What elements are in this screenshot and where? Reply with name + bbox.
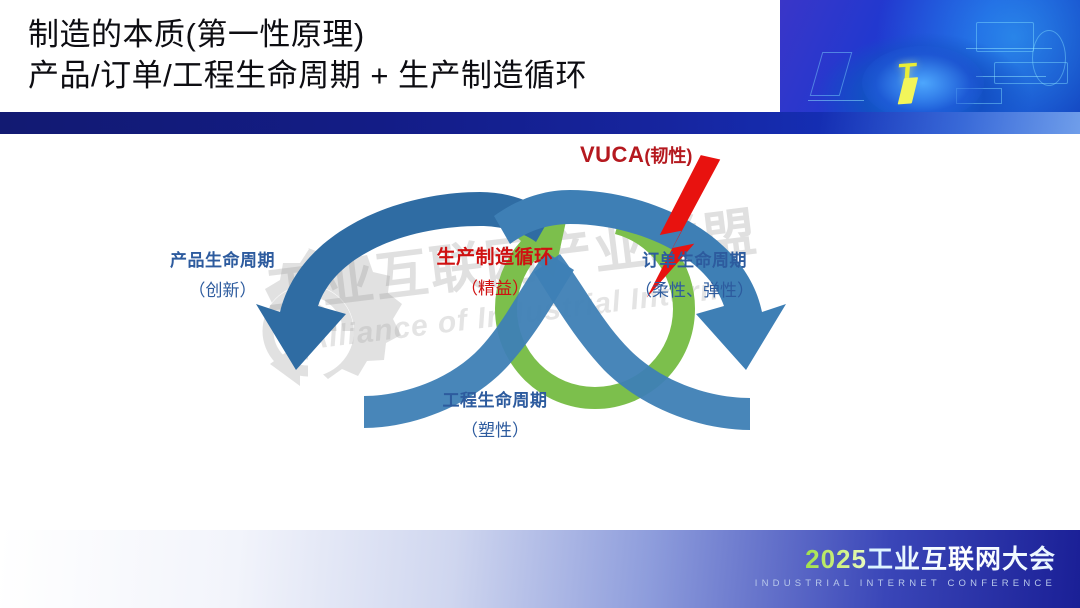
header-divider-bar: [0, 112, 1080, 134]
hud-line-3: [808, 100, 864, 101]
slide-body: 工业互联网产业联盟 Alliance of Industrial Interne…: [0, 134, 1080, 530]
order-lifecycle-title: 订单生命周期: [635, 246, 754, 271]
label-product-lifecycle: 产品生命周期 （创新）: [170, 246, 275, 301]
order-lifecycle-subtitle: （柔性、弹性）: [635, 276, 754, 301]
production-cycle-subtitle: （精益）: [405, 274, 585, 299]
vuca-en-text: VUCA: [580, 142, 644, 167]
product-lifecycle-title: 产品生命周期: [170, 246, 275, 271]
slide-footer: 2025工业互联网大会 INDUSTRIAL INTERNET CONFEREN…: [0, 530, 1080, 608]
slide-header: 制造的本质(第一性原理) 产品/订单/工程生命周期 + 生产制造循环 T: [0, 0, 1080, 112]
hud-panel-d: [810, 52, 853, 96]
conference-year: 2025: [805, 544, 867, 574]
hud-line-1: [966, 48, 1052, 49]
slide-root: 制造的本质(第一性原理) 产品/订单/工程生命周期 + 生产制造循环 T: [0, 0, 1080, 608]
label-production-cycle: 生产制造循环 （精益）: [405, 242, 585, 299]
hud-line-2: [976, 76, 1046, 77]
label-engineering-lifecycle: 工程生命周期 （塑性）: [400, 386, 590, 441]
title-line-2: 产品/订单/工程生命周期 + 生产制造循环: [28, 55, 788, 96]
engineering-lifecycle-title: 工程生命周期: [400, 386, 590, 411]
vuca-cn-text: (韧性): [644, 146, 692, 166]
tech-banner-graphic: T: [780, 0, 1080, 125]
lifecycle-cycle-diagram: VUCA(韧性) 产品生命周期 （创新） 生产制造循环 （精益） 订单生命周期 …: [150, 134, 930, 474]
product-lifecycle-subtitle: （创新）: [170, 276, 275, 301]
conference-name-en: INDUSTRIAL INTERNET CONFERENCE: [755, 578, 1056, 589]
vuca-label: VUCA(韧性): [580, 142, 692, 168]
production-cycle-title: 生产制造循环: [405, 242, 585, 269]
label-order-lifecycle: 订单生命周期 （柔性、弹性）: [635, 246, 754, 301]
engineering-lifecycle-subtitle: （塑性）: [400, 416, 590, 441]
conference-logo: 2025工业互联网大会 INDUSTRIAL INTERNET CONFEREN…: [755, 544, 1056, 589]
conference-title: 2025工业互联网大会: [755, 544, 1056, 574]
t-logo-icon: T: [897, 57, 918, 92]
divider-sheen: [820, 112, 1080, 134]
title-line-1: 制造的本质(第一性原理): [28, 14, 788, 55]
conference-name-cn: 工业互联网大会: [867, 544, 1056, 574]
page-title: 制造的本质(第一性原理) 产品/订单/工程生命周期 + 生产制造循环: [28, 14, 788, 96]
hud-ring: [1032, 30, 1066, 86]
banner-core-glow: [862, 46, 984, 120]
